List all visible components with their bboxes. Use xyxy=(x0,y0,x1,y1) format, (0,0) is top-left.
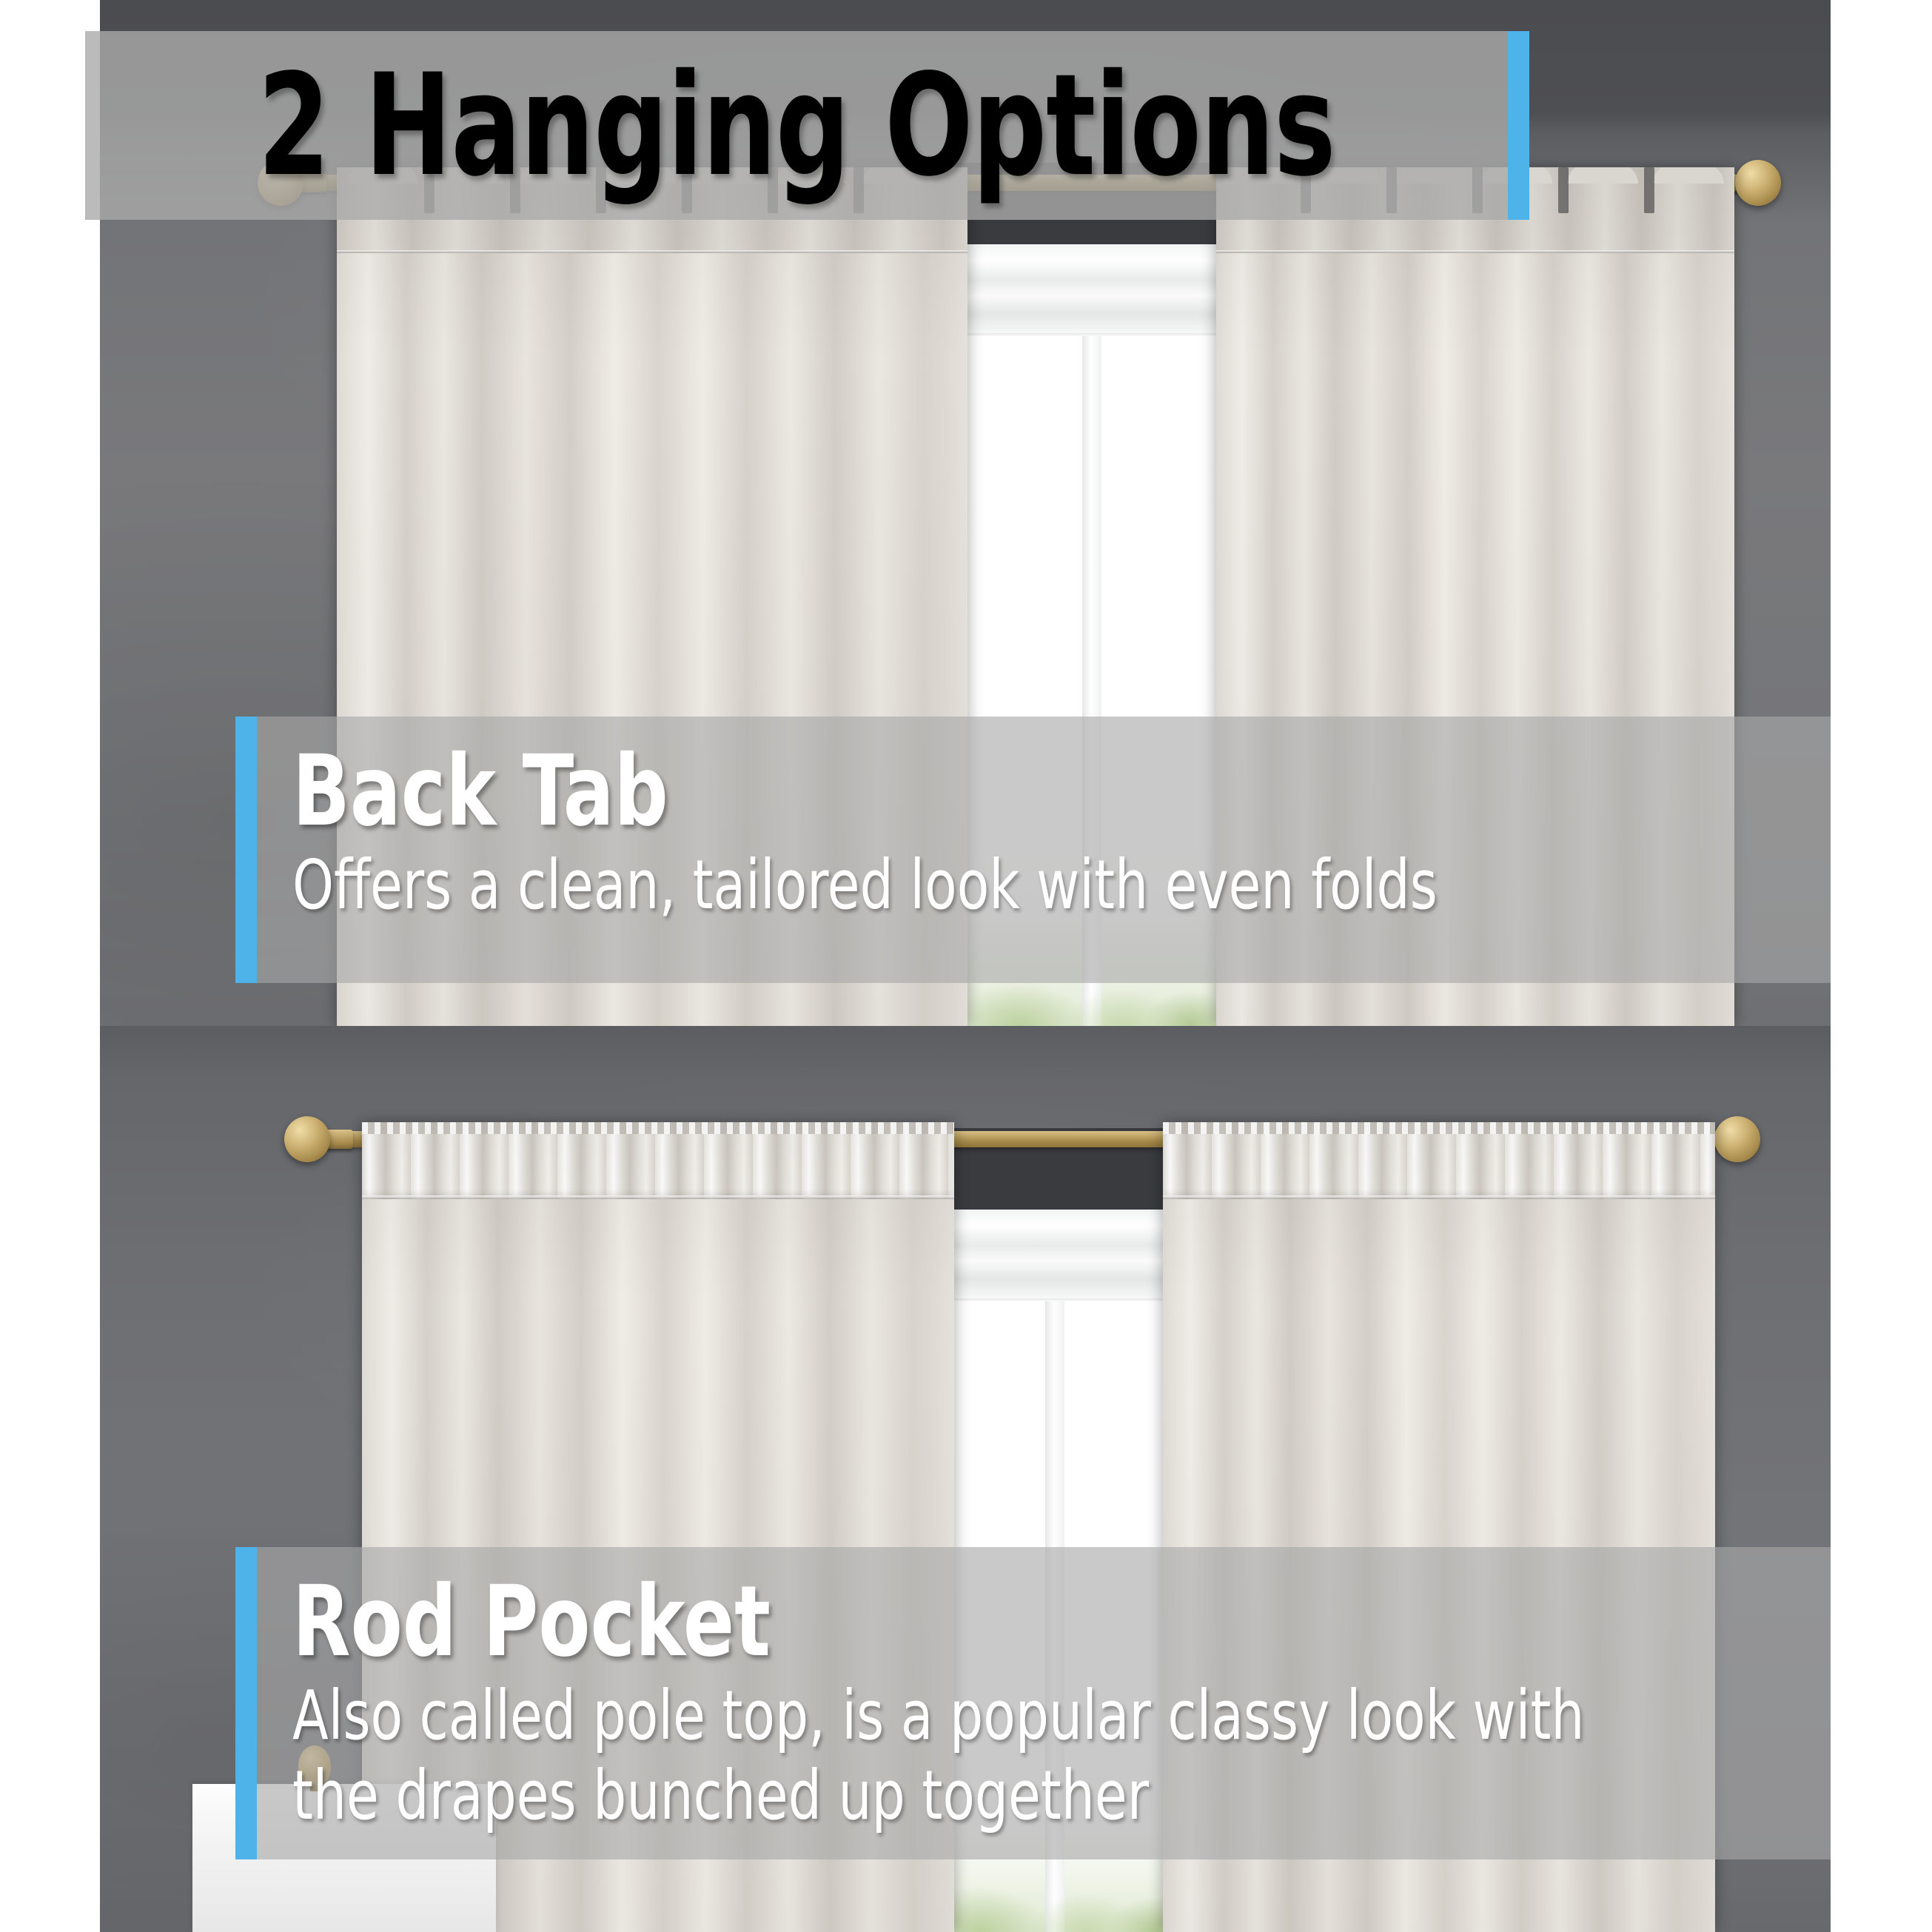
section-description-rod-pocket-line-1: Also called pole top, is a popular class… xyxy=(292,1677,1584,1754)
page-title: 2 Hanging Options xyxy=(213,31,1380,220)
header-accent-bar xyxy=(1508,31,1529,220)
header-banner: 2 Hanging Options xyxy=(85,31,1508,220)
section-banner-rod-pocket: Rod Pocket Also called pole top, is a po… xyxy=(257,1547,1831,1859)
rod-pocket-header-left xyxy=(362,1122,954,1199)
window-trim-lower xyxy=(914,1210,1195,1298)
ball-finial-left-lower xyxy=(284,1116,330,1162)
ball-finial-right-lower xyxy=(1714,1116,1760,1162)
section-banner-back-tab: Back Tab Offers a clean, tailored look w… xyxy=(257,717,1831,983)
rod-pocket-header-right xyxy=(1163,1122,1715,1199)
window-trim-upper xyxy=(955,244,1229,333)
section-title-back-tab: Back Tab xyxy=(292,736,1438,847)
section-description-back-tab-line-1: Offers a clean, tailored look with even … xyxy=(292,847,1438,924)
section-description-rod-pocket-line-2: the drapes bunched up together xyxy=(292,1757,1584,1834)
section-content-rod-pocket: Rod Pocket Also called pole top, is a po… xyxy=(257,1547,1795,1859)
section-accent-bar-rod-pocket xyxy=(235,1547,257,1859)
section-content-back-tab: Back Tab Offers a clean, tailored look w… xyxy=(257,717,1624,983)
ball-finial-right-upper xyxy=(1735,160,1781,206)
section-title-rod-pocket: Rod Pocket xyxy=(292,1566,1584,1677)
section-accent-bar-back-tab xyxy=(235,717,257,983)
infographic-canvas: 2 Hanging Options Back Tab Offers a clea… xyxy=(0,0,1932,1932)
